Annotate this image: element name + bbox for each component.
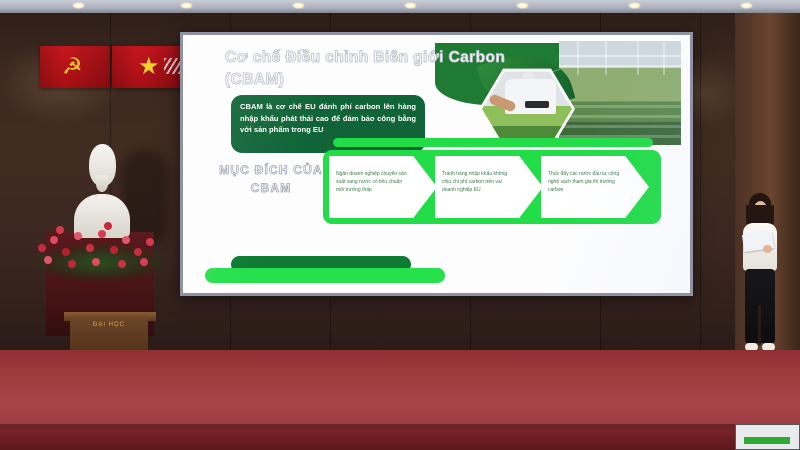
flag-fold [164, 58, 180, 74]
ceiling-spotlight [740, 2, 753, 9]
purpose-label: MỤC ĐÍCH CỦA CBAM [211, 161, 331, 197]
ceiling-spotlight [404, 2, 417, 9]
conference-hall-scene: ☭ ★ ĐẠI HỌC [0, 0, 800, 450]
ceiling-spotlight [72, 2, 85, 9]
corner-sign [735, 424, 800, 450]
purpose-arrow-3-body: Thúc đẩy các nước đầu tư công nghệ sạch … [548, 170, 620, 194]
purpose-arrow-3: Thúc đẩy các nước đầu tư công nghệ sạch … [541, 156, 649, 218]
communist-party-flag: ☭ [40, 46, 110, 88]
decor-bar-top [333, 138, 653, 147]
presenter [733, 193, 785, 358]
ceiling-spotlight [180, 2, 193, 9]
purpose-arrow-1: Ngăn doanh nghiệp chuyển sản xuất sang n… [329, 156, 437, 218]
ceiling-spotlight [292, 2, 305, 9]
presentation-slide: Cơ chế Điều chỉnh Biên giới Carbon (CBAM… [183, 35, 690, 293]
hammer-and-sickle-icon: ☭ [62, 55, 88, 79]
cbam-definition-text: CBAM là cơ chế EU đánh phí carbon lên hà… [240, 101, 416, 136]
stage-front [0, 430, 800, 450]
purpose-arrow-1-heading: Ngăn rò rỉ carbon: [335, 158, 392, 165]
vietnam-flag: ★ [112, 46, 186, 88]
decor-bar-bright [205, 268, 445, 283]
ceiling-spotlight [516, 2, 529, 9]
purpose-arrow-3-heading: Khuyến khích toàn cầu: [547, 158, 621, 165]
purpose-arrow-1-body: Ngăn doanh nghiệp chuyển sản xuất sang n… [336, 170, 408, 194]
purpose-arrow-2-body: Tránh hàng nhập khẩu không chịu chi phí … [442, 170, 514, 194]
ceiling [0, 0, 800, 14]
flower-arrangement [30, 218, 170, 274]
projection-screen[interactable]: Cơ chế Điều chỉnh Biên giới Carbon (CBAM… [180, 32, 693, 296]
podium-text: ĐẠI HỌC [78, 322, 140, 328]
purpose-arrow-band: Ngăn doanh nghiệp chuyển sản xuất sang n… [323, 150, 661, 224]
purpose-arrow-2-heading: Đảm bảo công bằng: [441, 158, 506, 165]
sign-green-bar [744, 437, 790, 444]
ceiling-spotlight [628, 2, 641, 9]
purpose-arrow-2: Tránh hàng nhập khẩu không chịu chi phí … [435, 156, 543, 218]
yellow-star-icon: ★ [138, 56, 160, 78]
greenhouse-photo [559, 41, 681, 145]
slide-title: Cơ chế Điều chỉnh Biên giới Carbon (CBAM… [225, 47, 525, 91]
